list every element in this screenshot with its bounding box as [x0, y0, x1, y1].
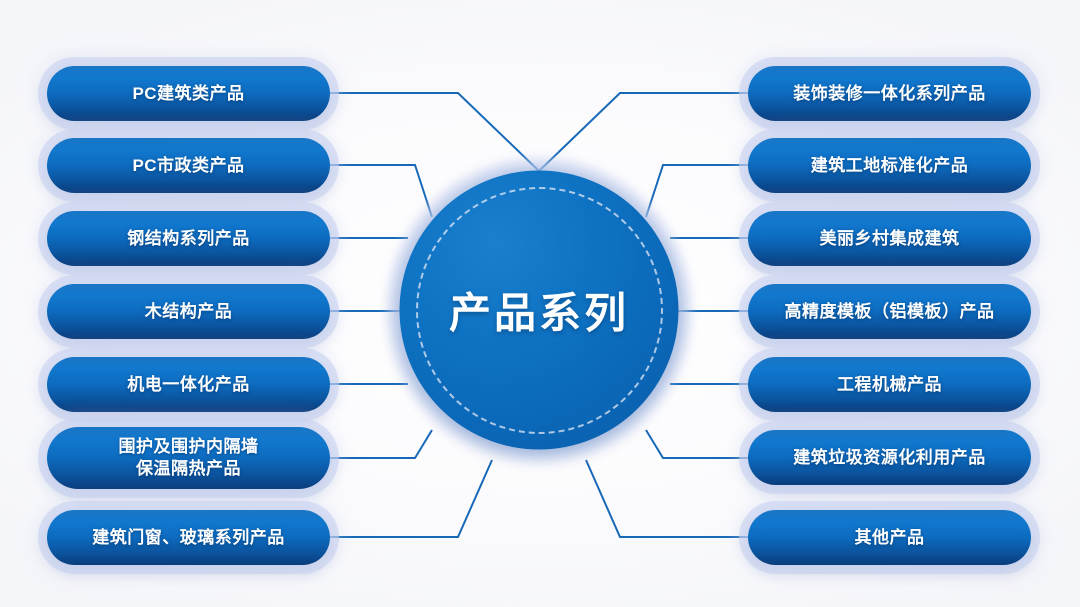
node-left-3[interactable]: 钢结构系列产品: [47, 211, 330, 266]
node-label-line1: 围护及围护内隔墙: [119, 437, 259, 456]
node-label: 美丽乡村集成建筑: [820, 228, 960, 250]
node-left-7[interactable]: 建筑门窗、玻璃系列产品: [47, 510, 330, 565]
node-label: 其他产品: [855, 527, 925, 549]
node-left-2[interactable]: PC市政类产品: [47, 138, 330, 193]
node-right-4[interactable]: 高精度模板（铝模板）产品: [748, 284, 1031, 339]
node-left-5[interactable]: 机电一体化产品: [47, 357, 330, 412]
node-label: 装饰装修一体化系列产品: [793, 83, 986, 105]
node-left-4[interactable]: 木结构产品: [47, 284, 330, 339]
product-series-diagram: 产品系列 PC建筑类产品 PC市政类产品 钢结构系列产品 木结构产品 机电一体化…: [0, 0, 1080, 607]
node-left-1[interactable]: PC建筑类产品: [47, 66, 330, 121]
node-label-line2: 保温隔热产品: [136, 459, 241, 478]
node-label: 高精度模板（铝模板）产品: [785, 301, 995, 323]
node-right-5[interactable]: 工程机械产品: [748, 357, 1031, 412]
node-left-6[interactable]: 围护及围护内隔墙 保温隔热产品: [47, 427, 330, 489]
node-label: 工程机械产品: [837, 374, 942, 396]
node-label: 机电一体化产品: [127, 374, 250, 396]
node-label: 建筑门窗、玻璃系列产品: [92, 527, 285, 549]
node-right-2[interactable]: 建筑工地标准化产品: [748, 138, 1031, 193]
hub-circle-icon: 产品系列: [400, 171, 679, 450]
node-right-1[interactable]: 装饰装修一体化系列产品: [748, 66, 1031, 121]
node-label: 钢结构系列产品: [127, 228, 250, 250]
node-label: 建筑垃圾资源化利用产品: [793, 447, 986, 469]
node-right-3[interactable]: 美丽乡村集成建筑: [748, 211, 1031, 266]
hub-label: 产品系列: [449, 280, 629, 341]
node-right-6[interactable]: 建筑垃圾资源化利用产品: [748, 430, 1031, 485]
node-label: 围护及围护内隔墙 保温隔热产品: [119, 436, 259, 480]
center-hub[interactable]: 产品系列: [374, 145, 704, 475]
node-label: 建筑工地标准化产品: [811, 155, 969, 177]
node-label: 木结构产品: [145, 301, 233, 323]
node-label: PC市政类产品: [132, 155, 244, 177]
node-right-7[interactable]: 其他产品: [748, 510, 1031, 565]
node-label: PC建筑类产品: [132, 83, 244, 105]
